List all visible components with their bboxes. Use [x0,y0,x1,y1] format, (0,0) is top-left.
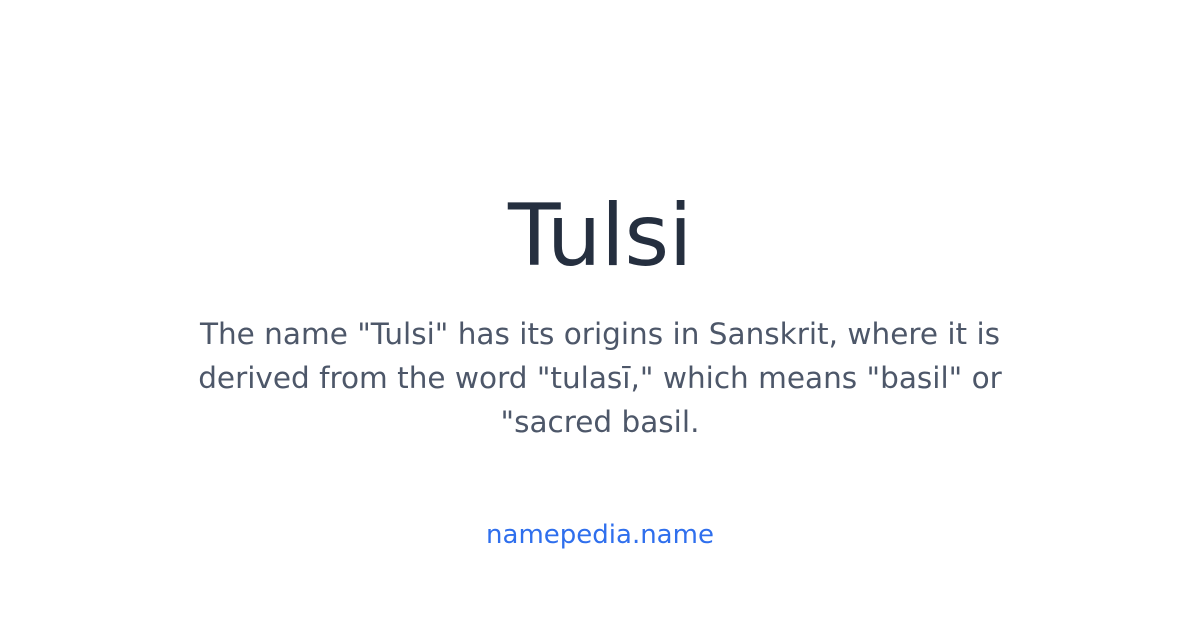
name-description: The name "Tulsi" has its origins in Sans… [185,312,1015,444]
site-link[interactable]: namepedia.name [486,520,714,550]
title-block: Tulsi [0,186,1200,286]
footer-block: namepedia.name [0,518,1200,552]
og-share-card: Tulsi The name "Tulsi" has its origins i… [0,0,1200,630]
page-title: Tulsi [0,186,1200,286]
description-block: The name "Tulsi" has its origins in Sans… [185,312,1015,444]
